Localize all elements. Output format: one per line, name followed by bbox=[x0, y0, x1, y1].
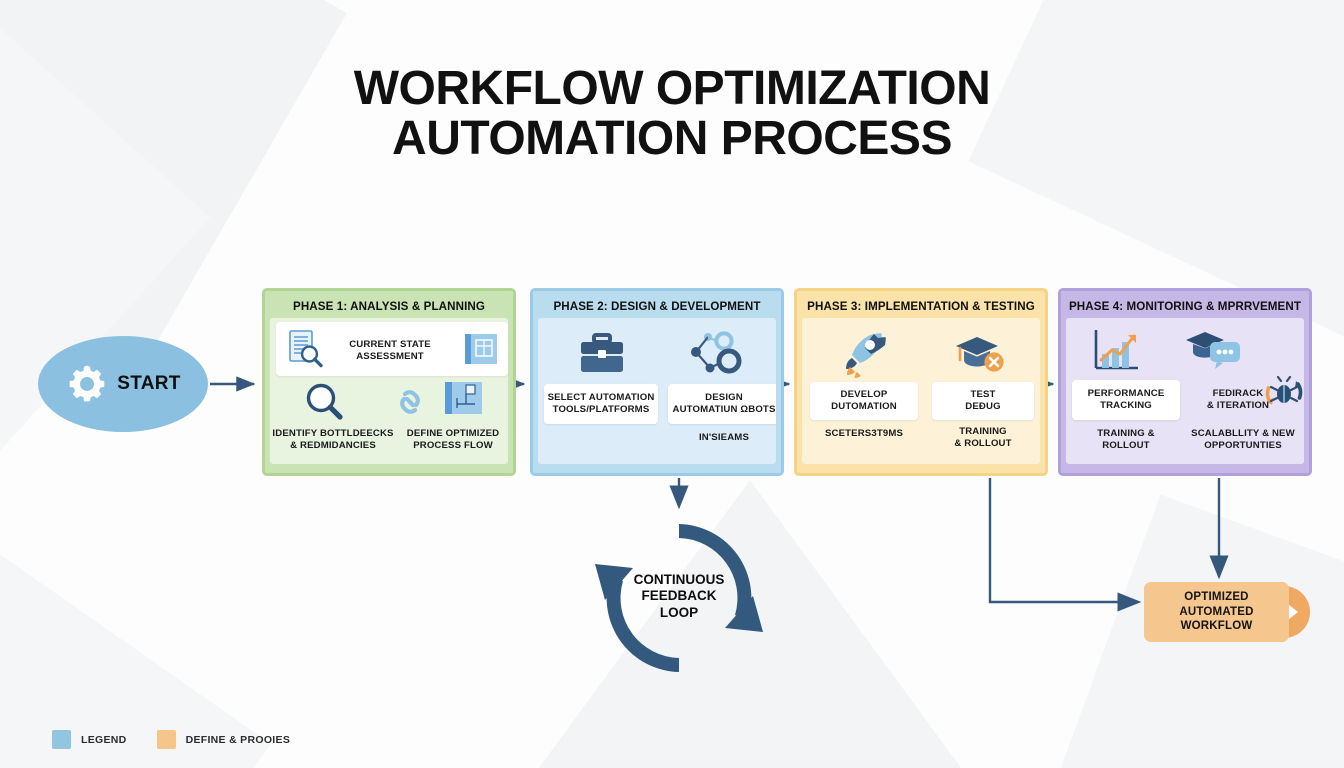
diagram-canvas: WORKFLOW OPTIMIZATION AUTOMATION PROCESS… bbox=[0, 0, 1344, 768]
phase-2-item-1-card[interactable]: SELECT AUTOMATION TOOLS/PLATFORMS bbox=[544, 384, 658, 424]
phase-4-item-2-label: FEDIRACK & ITERATION bbox=[1186, 388, 1290, 411]
legend-swatch-blue bbox=[52, 730, 71, 749]
phase-3-content: DEVELOP DUTOMATION TEST DEÐUG SCETERS3T9… bbox=[802, 318, 1040, 464]
phase-1-content: CURRENT STATE ASSESSMENT bbox=[270, 318, 508, 464]
title-line-2: AUTOMATION PROCESS bbox=[0, 114, 1344, 164]
title-line-1: WORKFLOW OPTIMIZATION bbox=[354, 62, 991, 115]
rocket-icon bbox=[840, 328, 892, 380]
phase-2-item-3-label: IN'SIEAMS bbox=[668, 432, 776, 444]
phase-3-box[interactable]: PHASE 3: IMPLEMENTATION & TESTING DEVEL bbox=[794, 288, 1048, 476]
phase-1-item-3-label: DEFINE OPTIMIZED PROCESS FLOW bbox=[392, 428, 508, 451]
graduation-cap-test-icon bbox=[952, 330, 1006, 378]
phase-2-content: SELECT AUTOMATION TOOLS/PLATFORMS DESIGN… bbox=[538, 318, 776, 464]
blueprint-icon bbox=[462, 330, 500, 368]
legend-label: DEFINE & PROOIES bbox=[186, 734, 291, 746]
phase-1-box[interactable]: PHASE 1: ANALYSIS & PLANNING CURRENT STA… bbox=[262, 288, 516, 476]
phase-2-item-2-label: DESIGN AUTOMATIUN ΩBOTS bbox=[672, 392, 775, 415]
gear-icon bbox=[65, 362, 109, 406]
phase-4-item-1-card[interactable]: PERFORMANCE TRACKING bbox=[1072, 380, 1180, 420]
legend-item[interactable]: LEGEND bbox=[52, 730, 127, 749]
legend: LEGEND DEFINE & PROOIES bbox=[52, 730, 290, 749]
legend-swatch-orange bbox=[157, 730, 176, 749]
phase-3-item-3-label: SCETERS3T9MS bbox=[810, 428, 918, 440]
briefcase-icon bbox=[576, 330, 628, 378]
start-label: START bbox=[117, 373, 180, 395]
phase-4-item-3-label: TRAINING & ROLLOUT bbox=[1072, 428, 1180, 451]
legend-item[interactable]: DEFINE & PROOIES bbox=[157, 730, 291, 749]
process-flow-blueprint-icon bbox=[442, 378, 486, 422]
phase-3-item-4-label: TRAINING & ROLLOUT bbox=[932, 426, 1034, 449]
end-node-label: OPTIMIZED AUTOMATED WORKFLOW bbox=[1179, 590, 1253, 633]
chain-link-icon bbox=[390, 382, 430, 422]
phase-4-item-1-label: PERFORMANCE TRACKING bbox=[1088, 388, 1165, 411]
phase-1-item-2-label: IDENTIFY BOTTLDEECKS & REDMIDANCIES bbox=[270, 428, 396, 451]
automation-gears-icon bbox=[686, 328, 744, 380]
phase-4-title: PHASE 4: MONITORING & MPRRVEMENT bbox=[1066, 296, 1304, 318]
legend-label: LEGEND bbox=[81, 734, 127, 746]
performance-chart-icon bbox=[1088, 326, 1144, 378]
feedback-loop-label: CONTINUOUS FEEDBACK LOOP bbox=[585, 572, 773, 621]
phase-4-box[interactable]: PHASE 4: MONITORING & MPRRVEMENT bbox=[1058, 288, 1312, 476]
phase-2-item-2-card[interactable]: DESIGN AUTOMATIUN ΩBOTS bbox=[668, 384, 776, 424]
feedback-cap-chat-icon bbox=[1184, 326, 1246, 376]
phase-3-item-1-label: DEVELOP DUTOMATION bbox=[831, 389, 897, 412]
end-node[interactable]: OPTIMIZED AUTOMATED WORKFLOW bbox=[1144, 582, 1289, 642]
phase-2-title: PHASE 2: DESIGN & DEVELOPMENT bbox=[538, 296, 776, 318]
magnifier-icon bbox=[302, 380, 346, 424]
phase-3-item-2-card[interactable]: TEST DEÐUG bbox=[932, 382, 1034, 420]
phase-1-title: PHASE 1: ANALYSIS & PLANNING bbox=[270, 296, 508, 318]
phase-3-item-2-label: TEST DEÐUG bbox=[965, 389, 1000, 412]
document-search-icon bbox=[284, 328, 326, 370]
phase-1-item-1-card[interactable]: CURRENT STATE ASSESSMENT bbox=[276, 322, 508, 376]
phase-3-item-1-card[interactable]: DEVELOP DUTOMATION bbox=[810, 382, 918, 420]
phase-4-content: PERFORMANCE TRACKING FEDIRACK & ITERATIO… bbox=[1066, 318, 1304, 464]
phase-2-box[interactable]: PHASE 2: DESIGN & DEVELOPMENT bbox=[530, 288, 784, 476]
phase-3-title: PHASE 3: IMPLEMENTATION & TESTING bbox=[802, 296, 1040, 318]
phase-2-item-1-label: SELECT AUTOMATION TOOLS/PLATFORMS bbox=[548, 392, 655, 415]
phase-1-item-1-label: CURRENT STATE ASSESSMENT bbox=[330, 339, 450, 362]
continuous-feedback-loop[interactable]: CONTINUOUS FEEDBACK LOOP bbox=[585, 512, 773, 684]
start-node[interactable]: START bbox=[38, 336, 208, 432]
page-title: WORKFLOW OPTIMIZATION AUTOMATION PROCESS bbox=[0, 64, 1344, 164]
phase-4-item-4-label: SCALABLLITY & NEW OPPORTUNTIES bbox=[1182, 428, 1304, 451]
